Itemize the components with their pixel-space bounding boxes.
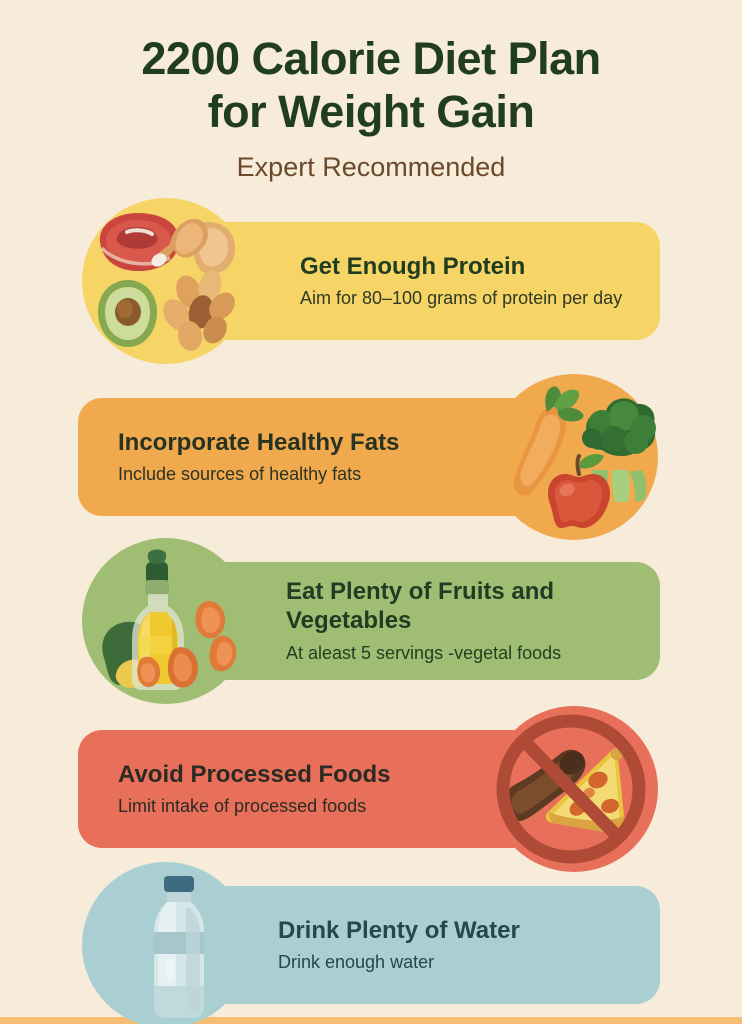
card-text-block: Get Enough Protein Aim for 80–100 grams … xyxy=(300,222,650,340)
card-description: Aim for 80–100 grams of protein per day xyxy=(300,287,650,310)
card-text-block: Avoid Processed Foods Limit intake of pr… xyxy=(118,730,538,848)
card-title: Incorporate Healthy Fats xyxy=(118,428,538,457)
page-title: 2200 Calorie Diet Plan for Weight Gain xyxy=(61,32,681,138)
title-line-1: 2200 Calorie Diet Plan xyxy=(61,32,681,85)
bottom-accent-strip xyxy=(0,1017,742,1024)
card-description: Drink enough water xyxy=(278,951,658,974)
card-title: Get Enough Protein xyxy=(300,252,650,281)
card-title: Avoid Processed Foods xyxy=(118,760,538,789)
tip-card-avoid-processed-foods[interactable]: Avoid Processed Foods Limit intake of pr… xyxy=(78,730,658,848)
card-text-block: Eat Plenty of Fruits and Vegetables At a… xyxy=(286,562,656,680)
tip-card-protein[interactable]: Get Enough Protein Aim for 80–100 grams … xyxy=(82,222,660,340)
card-description: At aleast 5 servings -vegetal foods xyxy=(286,642,656,665)
card-description: Limit intake of processed foods xyxy=(118,795,538,818)
tip-card-healthy-fats[interactable]: Incorporate Healthy Fats Include sources… xyxy=(78,398,658,516)
poster-header: 2200 Calorie Diet Plan for Weight Gain E… xyxy=(0,32,742,183)
infographic-poster: 2200 Calorie Diet Plan for Weight Gain E… xyxy=(0,0,742,1024)
card-title: Eat Plenty of Fruits and Vegetables xyxy=(286,577,656,636)
card-text-block: Drink Plenty of Water Drink enough water xyxy=(278,886,658,1004)
card-title: Drink Plenty of Water xyxy=(278,916,658,945)
card-text-block: Incorporate Healthy Fats Include sources… xyxy=(118,398,538,516)
page-subtitle: Expert Recommended xyxy=(0,152,742,183)
tip-card-drink-water[interactable]: Drink Plenty of Water Drink enough water xyxy=(82,886,660,1004)
card-description: Include sources of healthy fats xyxy=(118,463,538,486)
tip-card-fruits-vegetables[interactable]: Eat Plenty of Fruits and Vegetables At a… xyxy=(82,562,660,680)
title-line-2: for Weight Gain xyxy=(61,85,681,138)
